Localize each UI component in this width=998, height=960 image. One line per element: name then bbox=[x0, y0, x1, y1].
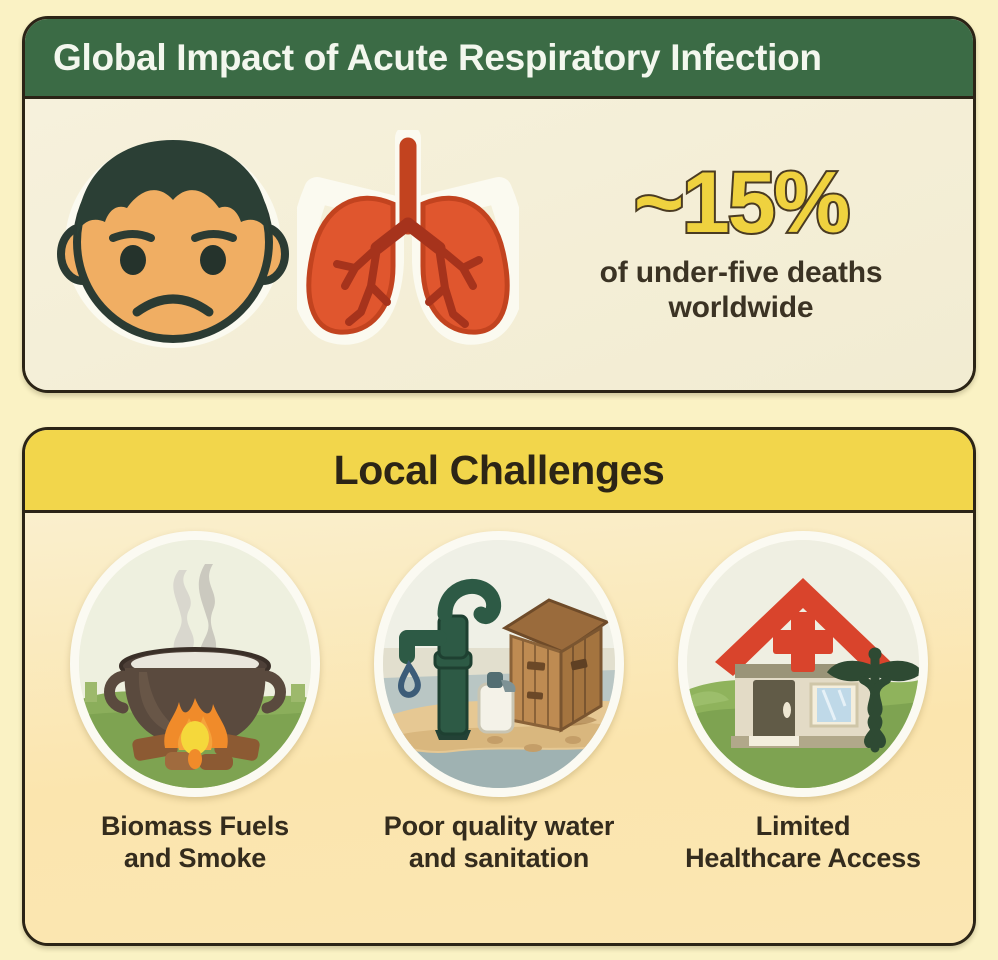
challenge-label: Poor quality water and sanitation bbox=[384, 811, 614, 874]
statistic-block: ~15% of under-five deaths worldwide bbox=[519, 163, 957, 325]
global-impact-header: Global Impact of Acute Respiratory Infec… bbox=[25, 19, 973, 99]
challenge-item: Poor quality water and sanitation bbox=[347, 531, 651, 933]
sad-child-face-icon bbox=[55, 126, 291, 363]
challenges-row: Biomass Fuels and Smoke bbox=[25, 513, 973, 943]
local-challenges-card: Local Challenges bbox=[22, 427, 976, 946]
lungs-icon bbox=[297, 130, 519, 359]
infographic-root: Global Impact of Acute Respiratory Infec… bbox=[0, 0, 998, 960]
water-pump-latrine-icon bbox=[374, 531, 624, 797]
local-challenges-header: Local Challenges bbox=[25, 430, 973, 513]
challenge-item: Biomass Fuels and Smoke bbox=[43, 531, 347, 933]
cooking-pot-fire-icon bbox=[70, 531, 320, 797]
statistic-caption-line1: of under-five deaths bbox=[600, 255, 883, 290]
challenge-item: Limited Healthcare Access bbox=[651, 531, 955, 933]
global-impact-card: Global Impact of Acute Respiratory Infec… bbox=[22, 16, 976, 393]
statistic-caption-line2: worldwide bbox=[600, 290, 883, 325]
global-impact-body: ~15% of under-five deaths worldwide bbox=[25, 99, 973, 390]
local-challenges-title: Local Challenges bbox=[334, 447, 665, 494]
statistic-caption: of under-five deaths worldwide bbox=[600, 255, 883, 326]
clinic-caduceus-icon bbox=[678, 531, 928, 797]
page-title: Global Impact of Acute Respiratory Infec… bbox=[53, 37, 822, 79]
challenge-label: Biomass Fuels and Smoke bbox=[101, 811, 289, 874]
statistic-value: ~15% bbox=[634, 163, 848, 245]
challenge-label: Limited Healthcare Access bbox=[685, 811, 921, 874]
illustration-group bbox=[55, 126, 519, 363]
